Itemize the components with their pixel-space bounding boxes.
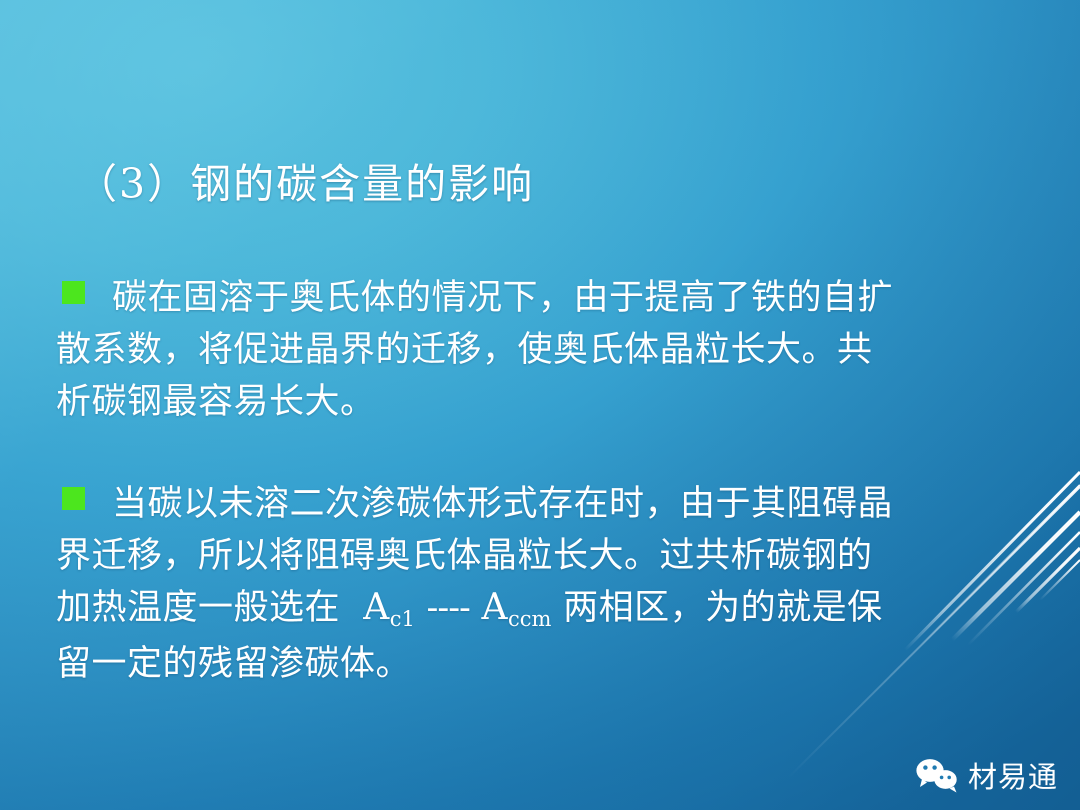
bullet-1-line-3: 析碳钢最容易长大。: [56, 376, 1056, 428]
green-square-bullet-icon: [62, 281, 85, 304]
watermark-label: 材易通: [968, 754, 1058, 796]
slide-canvas: （3）钢的碳含量的影响 碳在固溶于奥氏体的情况下，由于提高了铁的自扩 散系数，将…: [0, 0, 1080, 810]
line3-text-before: 加热温度一般选在: [56, 588, 340, 628]
line3-text-after: 两相区，为的就是保: [563, 588, 883, 628]
wechat-icon: [915, 757, 959, 793]
green-square-bullet-icon: [62, 487, 85, 510]
chem-accm-subscript: ccm: [508, 607, 551, 631]
slide-content: （3）钢的碳含量的影响 碳在固溶于奥氏体的情况下，由于提高了铁的自扩 散系数，将…: [0, 0, 1080, 810]
page-title: （3）钢的碳含量的影响: [76, 150, 534, 210]
bullet-item-2: 当碳以未溶二次渗碳体形式存在时，由于其阻碍晶 界迁移，所以将阻碍奥氏体晶粒长大。…: [56, 478, 1056, 690]
chem-accm-base: A: [482, 587, 509, 628]
bullet-2-text: 当碳以未溶二次渗碳体形式存在时，由于其阻碍晶 界迁移，所以将阻碍奥氏体晶粒长大。…: [56, 478, 1056, 690]
bullet-2-line-1: 当碳以未溶二次渗碳体形式存在时，由于其阻碍晶: [56, 478, 1056, 530]
chem-ac1-subscript: c1: [390, 607, 415, 631]
chem-symbol-accm: Accm: [482, 587, 552, 628]
chem-symbol-ac1: Ac1: [363, 587, 415, 628]
bullet-item-1: 碳在固溶于奥氏体的情况下，由于提高了铁的自扩 散系数，将促进晶界的迁移，使奥氏体…: [56, 272, 1056, 428]
bullet-2-line-2: 界迁移，所以将阻碍奥氏体晶粒长大。过共析碳钢的: [56, 530, 1056, 582]
bullet-1-line-1: 碳在固溶于奥氏体的情况下，由于提高了铁的自扩: [56, 272, 1056, 324]
chem-ac1-base: A: [363, 587, 390, 628]
bullet-1-line-2: 散系数，将促进晶界的迁移，使奥氏体晶粒长大。共: [56, 324, 1056, 376]
bullet-1-text: 碳在固溶于奥氏体的情况下，由于提高了铁的自扩 散系数，将促进晶界的迁移，使奥氏体…: [56, 272, 1056, 428]
bullet-2-line-4: 留一定的残留渗碳体。: [56, 638, 1056, 690]
chem-range-separator: ----: [427, 588, 470, 628]
bullet-2-line-3: 加热温度一般选在 Ac1 ---- Accm 两相区，为的就是保: [56, 582, 1056, 638]
watermark: 材易通: [915, 754, 1058, 796]
